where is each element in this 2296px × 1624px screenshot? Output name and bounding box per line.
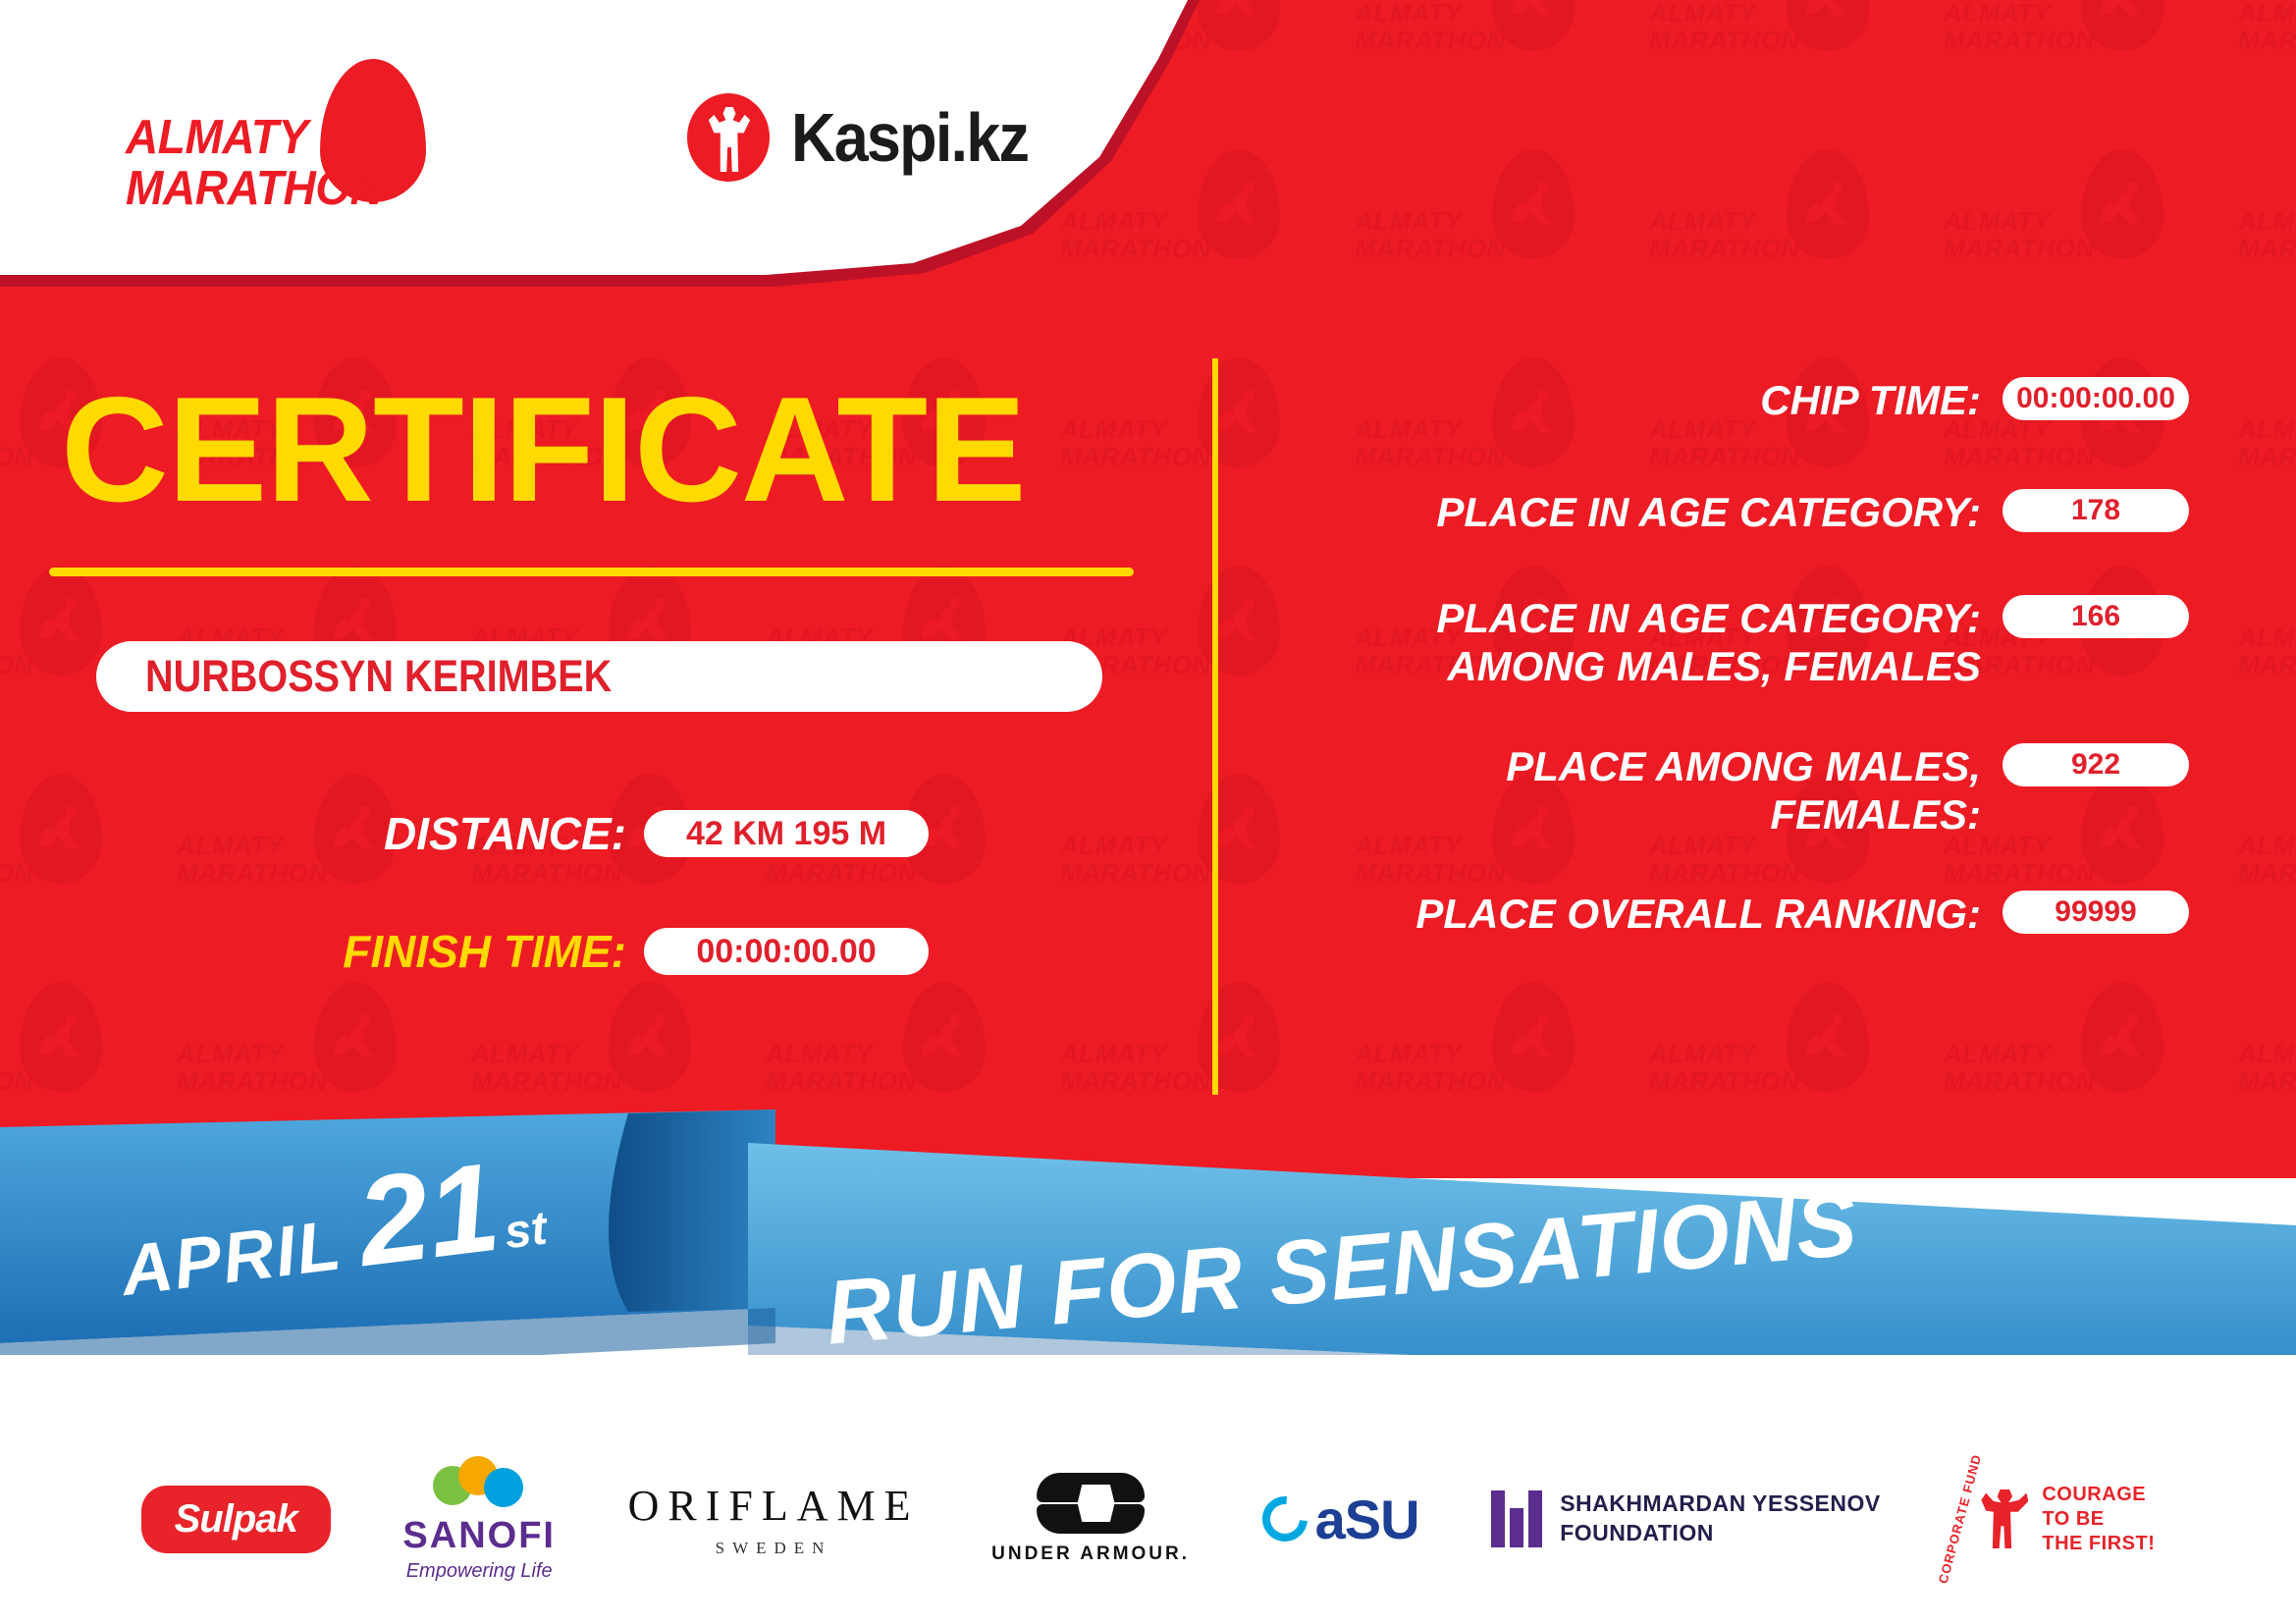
watermark-line-2: MARATHON (177, 858, 328, 889)
sponsor-oriflame: ORIFLAME SWEDEN (628, 1481, 920, 1558)
watermark-line-1: ALMATY (2238, 831, 2296, 861)
watermark-line-2: MARATHON (1944, 1066, 2095, 1097)
watermark-line-2: MARATHON (1649, 234, 1800, 264)
watermark-line-1: ALMATY (766, 1039, 873, 1069)
watermark-line-2: MARATHON (766, 858, 917, 889)
watermark-drop-icon (20, 774, 102, 884)
stat-row-place-age-category: PLACE IN AGE CATEGORY: 178 (1276, 485, 2189, 546)
title-underline (49, 568, 1134, 576)
watermark-line-2: MARATHON (1355, 1066, 1506, 1097)
watermark-line-2: MARATHON (1944, 26, 2095, 56)
finish-time-label: FINISH TIME: (273, 925, 626, 978)
kaspi-logo: Kaspi.kz (687, 93, 1054, 182)
watermark-line-1: ALMATY (2238, 206, 2296, 237)
column-divider (1212, 358, 1218, 1095)
stat-row-place-among-gender: PLACE AMONG MALES, FEMALES: 922 (1276, 739, 2189, 839)
stat-value: 922 (2002, 743, 2189, 786)
almaty-marathon-logo: ALMATY MARATHON (126, 59, 450, 196)
watermark-drop-icon (1787, 0, 1869, 51)
watermark-drop-icon (2081, 982, 2163, 1092)
stat-value: 178 (2002, 489, 2189, 532)
watermark-drop-icon (1492, 149, 1575, 259)
watermark-line-2: MARATHON (471, 1066, 622, 1097)
watermark-tile: ALMATYMARATHON (1060, 774, 1286, 921)
watermark-drop-icon (1198, 566, 1280, 676)
watermark-line-2: MARATHON (2238, 1066, 2296, 1097)
watermark-tile: ALMATYMARATHON (2238, 0, 2296, 88)
watermark-line-2: MARATHON (1355, 26, 1506, 56)
watermark-line-2: MARATHON (0, 650, 33, 680)
stat-value: 00:00:00.00 (2002, 377, 2189, 420)
asu-wordmark: aSU (1315, 1488, 1419, 1551)
watermark-line-2: MARATHON (1060, 1066, 1211, 1097)
watermark-line-1: ALMATY (1649, 1039, 1756, 1069)
sponsor-sulpak: Sulpak (141, 1486, 331, 1553)
sponsor-shakhmardan-yessenov-foundation: SHAKHMARDAN YESSENOV FOUNDATION (1491, 1489, 1881, 1548)
watermark-drop-icon (903, 982, 986, 1092)
finish-time-value: 00:00:00.00 (644, 928, 929, 975)
watermark-line-2: MARATHON (2238, 650, 2296, 680)
sanofi-wordmark: SANOFI (402, 1515, 556, 1557)
watermark-line-1: ALMATY (2238, 1039, 2296, 1069)
watermark-line-1: ALMATY (1355, 206, 1462, 237)
watermark-drop-icon (1787, 149, 1869, 259)
watermark-line-2: MARATHON (1355, 234, 1506, 264)
asu-swoosh-icon (1253, 1488, 1316, 1551)
watermark-line-2: MARATHON (2238, 442, 2296, 472)
watermark-line-1: ALMATY (471, 1039, 578, 1069)
watermark-line-2: MARATHON (471, 858, 622, 889)
watermark-tile: ALMATYMARATHON (2238, 566, 2296, 713)
watermark-line-1: ALMATY (1355, 0, 1462, 28)
watermark-tile: ALMATYMARATHON (2238, 149, 2296, 297)
watermark-tile: ALMATYMARATHON (2238, 357, 2296, 505)
courage-person-icon (1981, 1489, 2028, 1548)
sponsor-corporate-fund: CORPORATE FUND COURAGE TO BE THE FIRST! (1952, 1452, 2155, 1586)
watermark-line-1: ALMATY (1649, 206, 1756, 237)
distance-row: DISTANCE: 42 KM 195 M (273, 807, 929, 860)
courage-text: COURAGE TO BE THE FIRST! (2042, 1483, 2155, 1556)
under-armour-wordmark: UNDER ARMOUR. (991, 1543, 1190, 1565)
sanofi-mark-icon (433, 1456, 525, 1509)
stat-label: PLACE AMONG MALES, FEMALES: (1276, 739, 2002, 839)
distance-value: 42 KM 195 M (644, 810, 929, 857)
stat-value: 99999 (2002, 891, 2189, 934)
watermark-drop-icon (1787, 982, 1869, 1092)
stats-panel: CHIP TIME: 00:00:00.00 PLACE IN AGE CATE… (1276, 373, 2189, 981)
watermark-drop-icon (1198, 982, 1280, 1092)
sanofi-tagline: Empowering Life (402, 1560, 556, 1583)
stat-row-place-overall: PLACE OVERALL RANKING: 99999 (1276, 887, 2189, 947)
participant-name-value: NURBOSSYN KERIMBEK (145, 651, 612, 702)
watermark-line-2: MARATHON (1944, 234, 2095, 264)
yessenov-mark-icon (1491, 1490, 1542, 1547)
watermark-line-2: MARATHON (1060, 858, 1211, 889)
watermark-drop-icon (1492, 982, 1575, 1092)
courage-line-1: COURAGE (2042, 1483, 2155, 1507)
watermark-line-1: ALMATY (177, 831, 284, 861)
watermark-tile: ALMATYMARATHON (1649, 149, 1875, 297)
watermark-line-2: MARATHON (0, 858, 33, 889)
watermark-drop-icon (314, 982, 397, 1092)
stat-label: CHIP TIME: (1276, 373, 2002, 425)
finish-time-row: FINISH TIME: 00:00:00.00 (273, 925, 929, 978)
watermark-line-2: MARATHON (1060, 234, 1211, 264)
watermark-drop-icon (20, 982, 102, 1092)
oriflame-wordmark: ORIFLAME (628, 1481, 920, 1531)
event-day: 21 (351, 1145, 506, 1286)
sponsor-under-armour: UNDER ARMOUR. (991, 1473, 1190, 1565)
sulpak-logo: Sulpak (141, 1486, 331, 1553)
certificate-canvas: ALMATYMARATHONALMATYMARATHONALMATYMARATH… (0, 0, 2296, 1624)
watermark-tile: ALMATYMARATHON (1649, 0, 1875, 88)
watermark-line-1: ALMATY (1060, 1039, 1167, 1069)
watermark-tile: ALMATYMARATHON (1355, 149, 1580, 297)
corporate-fund-arc-text: CORPORATE FUND (1936, 1452, 1985, 1585)
stat-label: PLACE OVERALL RANKING: (1276, 887, 2002, 939)
kaspi-wordmark: Kaspi.kz (791, 98, 1028, 177)
watermark-drop-icon (1492, 0, 1575, 51)
watermark-line-1: ALMATY (1944, 206, 2051, 237)
yessenov-line-2: FOUNDATION (1560, 1519, 1881, 1548)
watermark-tile: ALMATYMARATHON (2238, 774, 2296, 921)
watermark-drop-icon (1198, 0, 1280, 51)
page-title: CERTIFICATE (61, 375, 1026, 524)
watermark-line-1: ALMATY (1944, 1039, 2051, 1069)
watermark-line-2: MARATHON (2238, 26, 2296, 56)
courage-line-2: TO BE (2042, 1507, 2155, 1532)
watermark-drop-icon (1198, 149, 1280, 259)
watermark-tile: ALMATYMARATHON (0, 774, 108, 921)
watermark-drop-icon (609, 982, 691, 1092)
watermark-tile: ALMATYMARATHON (1944, 0, 2169, 88)
kaspi-person-icon (687, 93, 770, 182)
watermark-line-1: ALMATY (1060, 414, 1167, 445)
watermark-drop-icon (1198, 774, 1280, 884)
watermark-line-1: ALMATY (1355, 1039, 1462, 1069)
watermark-line-2: MARATHON (2238, 858, 2296, 889)
stat-value: 166 (2002, 595, 2189, 638)
watermark-line-1: ALMATY (1649, 0, 1756, 28)
watermark-drop-icon (2081, 149, 2163, 259)
sponsor-sanofi: SANOFI Empowering Life (402, 1456, 556, 1583)
watermark-line-1: ALMATY (2238, 0, 2296, 28)
watermark-drop-icon (20, 566, 102, 676)
watermark-drop-icon (2081, 0, 2163, 51)
oriflame-subtitle: SWEDEN (628, 1539, 920, 1558)
logo-line-2: MARATHON (126, 161, 382, 216)
watermark-line-1: ALMATY (2238, 623, 2296, 653)
watermark-line-2: MARATHON (1649, 26, 1800, 56)
watermark-line-1: ALMATY (1060, 206, 1167, 237)
watermark-line-2: MARATHON (766, 1066, 917, 1097)
sponsor-bar: Sulpak SANOFI Empowering Life ORIFLAME S… (0, 1414, 2296, 1624)
stat-label: PLACE IN AGE CATEGORY: AMONG MALES, FEMA… (1276, 591, 2002, 690)
stat-row-place-age-category-gender: PLACE IN AGE CATEGORY: AMONG MALES, FEMA… (1276, 591, 2189, 690)
watermark-line-2: MARATHON (0, 1066, 33, 1097)
watermark-line-2: MARATHON (1649, 1066, 1800, 1097)
watermark-tile: ALMATYMARATHON (1355, 0, 1580, 88)
watermark-line-2: MARATHON (0, 442, 33, 472)
participant-name-field: NURBOSSYN KERIMBEK (96, 641, 1102, 712)
distance-label: DISTANCE: (273, 807, 626, 860)
logo-line-1: ALMATY (126, 110, 308, 165)
watermark-drop-icon (1198, 357, 1280, 467)
under-armour-mark-icon (1037, 1473, 1145, 1534)
watermark-line-2: MARATHON (1060, 442, 1211, 472)
event-day-suffix: st (502, 1201, 550, 1260)
watermark-tile: ALMATYMARATHON (0, 566, 108, 713)
watermark-line-1: ALMATY (2238, 414, 2296, 445)
watermark-line-2: MARATHON (177, 1066, 328, 1097)
stat-label: PLACE IN AGE CATEGORY: (1276, 485, 2002, 537)
watermark-tile: ALMATYMARATHON (1060, 357, 1286, 505)
watermark-tile: ALMATYMARATHON (1944, 149, 2169, 297)
watermark-line-1: ALMATY (1944, 0, 2051, 28)
yessenov-line-1: SHAKHMARDAN YESSENOV (1560, 1489, 1881, 1519)
watermark-line-1: ALMATY (177, 1039, 284, 1069)
sponsor-asu: aSU (1262, 1488, 1419, 1551)
courage-line-3: THE FIRST! (2042, 1532, 2155, 1556)
stat-row-chip-time: CHIP TIME: 00:00:00.00 (1276, 373, 2189, 434)
watermark-line-2: MARATHON (2238, 234, 2296, 264)
watermark-line-1: ALMATY (1060, 831, 1167, 861)
